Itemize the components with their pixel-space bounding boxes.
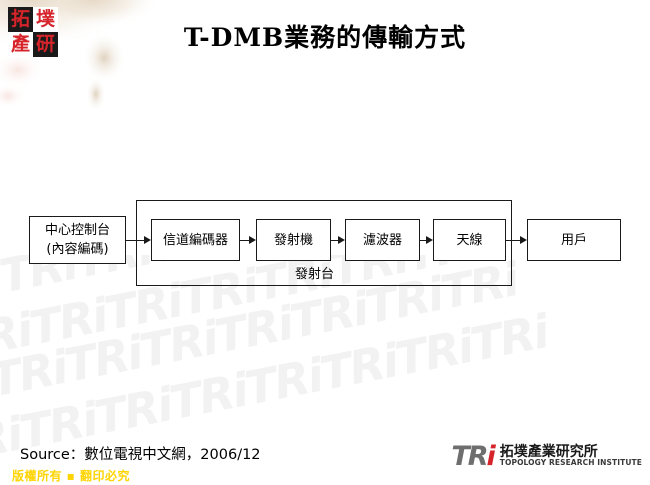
node-label-line1: 用戶 — [561, 231, 587, 250]
slide-canvas: TRiTRiTRiTRiTRiTRiTRiTRi TRiTRiTRiTRiTRi… — [0, 0, 650, 485]
tri-institute-logo: TRi 拓墣產業研究所 TOPOLOGY RESEARCH INSTITUTE — [451, 441, 642, 471]
arrowhead-console-to-encoder — [144, 236, 151, 244]
footer-copyright-text: 版權所有 ▪ 翻印必究 — [12, 467, 130, 484]
connector-encoder-to-transmitter — [240, 240, 249, 241]
node-label-line1: 中心控制台 — [45, 221, 110, 240]
tri-name-english: TOPOLOGY RESEARCH INSTITUTE — [500, 459, 642, 467]
node-label-line1: 濾波器 — [363, 231, 402, 250]
node-antenna[interactable]: 天線 — [433, 219, 506, 261]
tri-mark-t: T — [451, 441, 467, 472]
background-watermark: TRiTRiTRiTRiTRiTRiTRiTRi TRiTRiTRiTRiTRi… — [0, 255, 650, 465]
node-user[interactable]: 用戶 — [527, 219, 621, 261]
node-label-line2: (內容編碼) — [46, 240, 108, 259]
node-label-line1: 信道編碼器 — [163, 231, 228, 250]
arrowhead-filter-to-antenna — [426, 236, 433, 244]
connector-antenna-to-user — [506, 240, 520, 241]
node-channel-encoder[interactable]: 信道編碼器 — [151, 219, 240, 261]
node-center-console[interactable]: 中心控制台 (內容編碼) — [29, 216, 126, 264]
connector-console-to-encoder — [126, 240, 144, 241]
tri-mark-i: i — [487, 441, 494, 472]
tri-wordmark: TRi — [451, 443, 493, 470]
page-title: T-DMB業務的傳輸方式 — [0, 18, 650, 54]
tri-name-chinese: 拓墣產業研究所 — [500, 445, 642, 460]
arrowhead-antenna-to-user — [520, 236, 527, 244]
node-filter[interactable]: 濾波器 — [345, 219, 420, 261]
connector-transmitter-to-filter — [331, 240, 338, 241]
group-label-transmitting-station: 發射台 — [295, 263, 334, 282]
node-transmitter[interactable]: 發射機 — [256, 219, 331, 261]
node-label-line1: 天線 — [456, 231, 482, 250]
block-diagram: 發射台 中心控制台 (內容編碼) 信道編碼器 發射機 濾波器 天線 用戶 — [0, 0, 650, 485]
arrowhead-encoder-to-transmitter — [249, 236, 256, 244]
arrowhead-transmitter-to-filter — [338, 236, 345, 244]
source-text: Source：數位電視中文網，2006/12 — [20, 443, 261, 464]
node-label-line1: 發射機 — [274, 231, 313, 250]
tri-name-block: 拓墣產業研究所 TOPOLOGY RESEARCH INSTITUTE — [500, 445, 642, 468]
tri-mark-r: R — [468, 441, 487, 472]
